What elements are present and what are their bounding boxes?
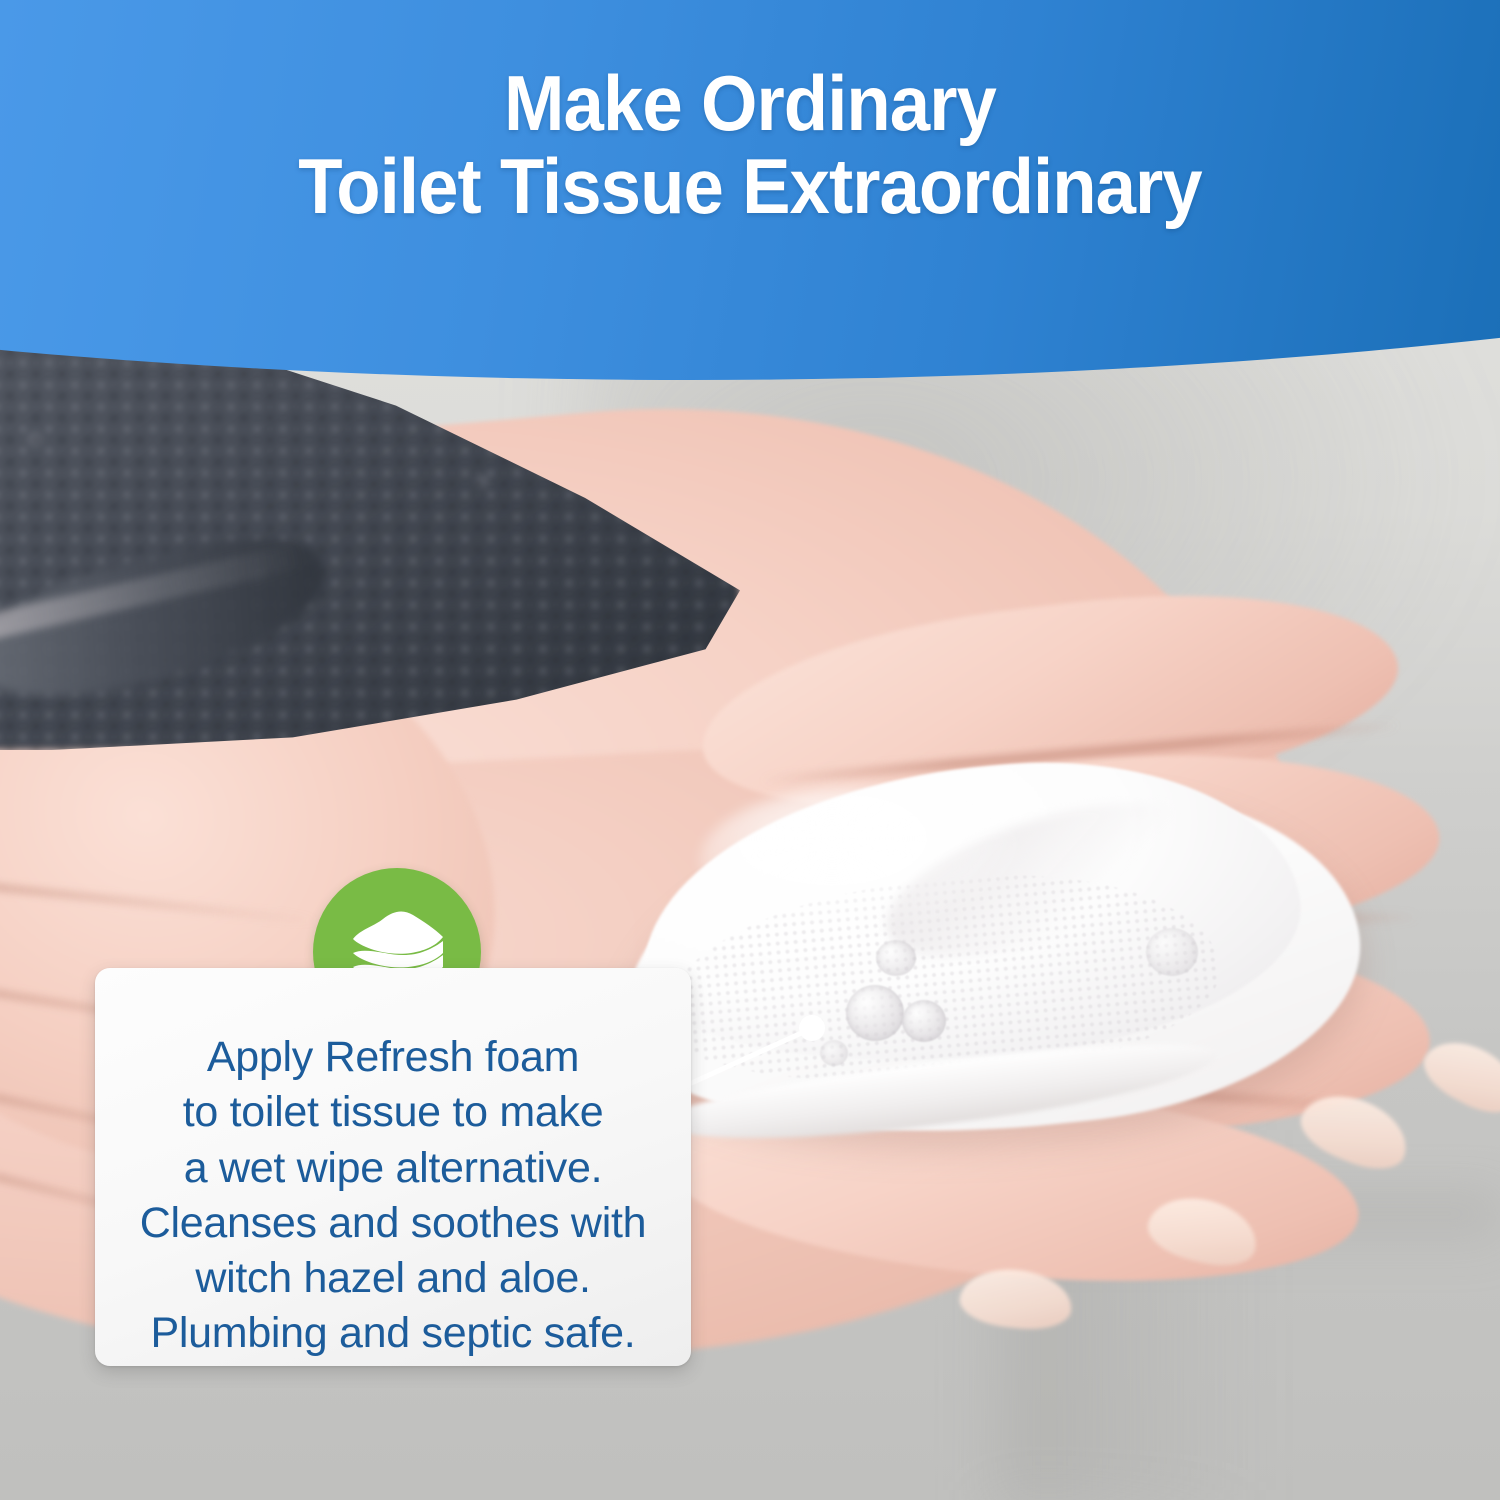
foam-bubble [820, 1040, 848, 1066]
foam-bubble [846, 985, 904, 1041]
foam-bubble [902, 1000, 946, 1042]
product-feature-graphic: Make Ordinary Toilet Tissue Extraordinar… [0, 0, 1500, 1500]
foam-bubble [1146, 928, 1198, 976]
header-banner: Make Ordinary Toilet Tissue Extraordinar… [0, 0, 1500, 380]
page-title: Make Ordinary Toilet Tissue Extraordinar… [53, 62, 1448, 229]
foam-bubble [876, 940, 916, 976]
info-card-body: Apply Refresh foam to toilet tissue to m… [95, 1030, 691, 1362]
info-card: Apply Refresh foam to toilet tissue to m… [95, 968, 691, 1366]
foam-highlight [700, 786, 1030, 936]
